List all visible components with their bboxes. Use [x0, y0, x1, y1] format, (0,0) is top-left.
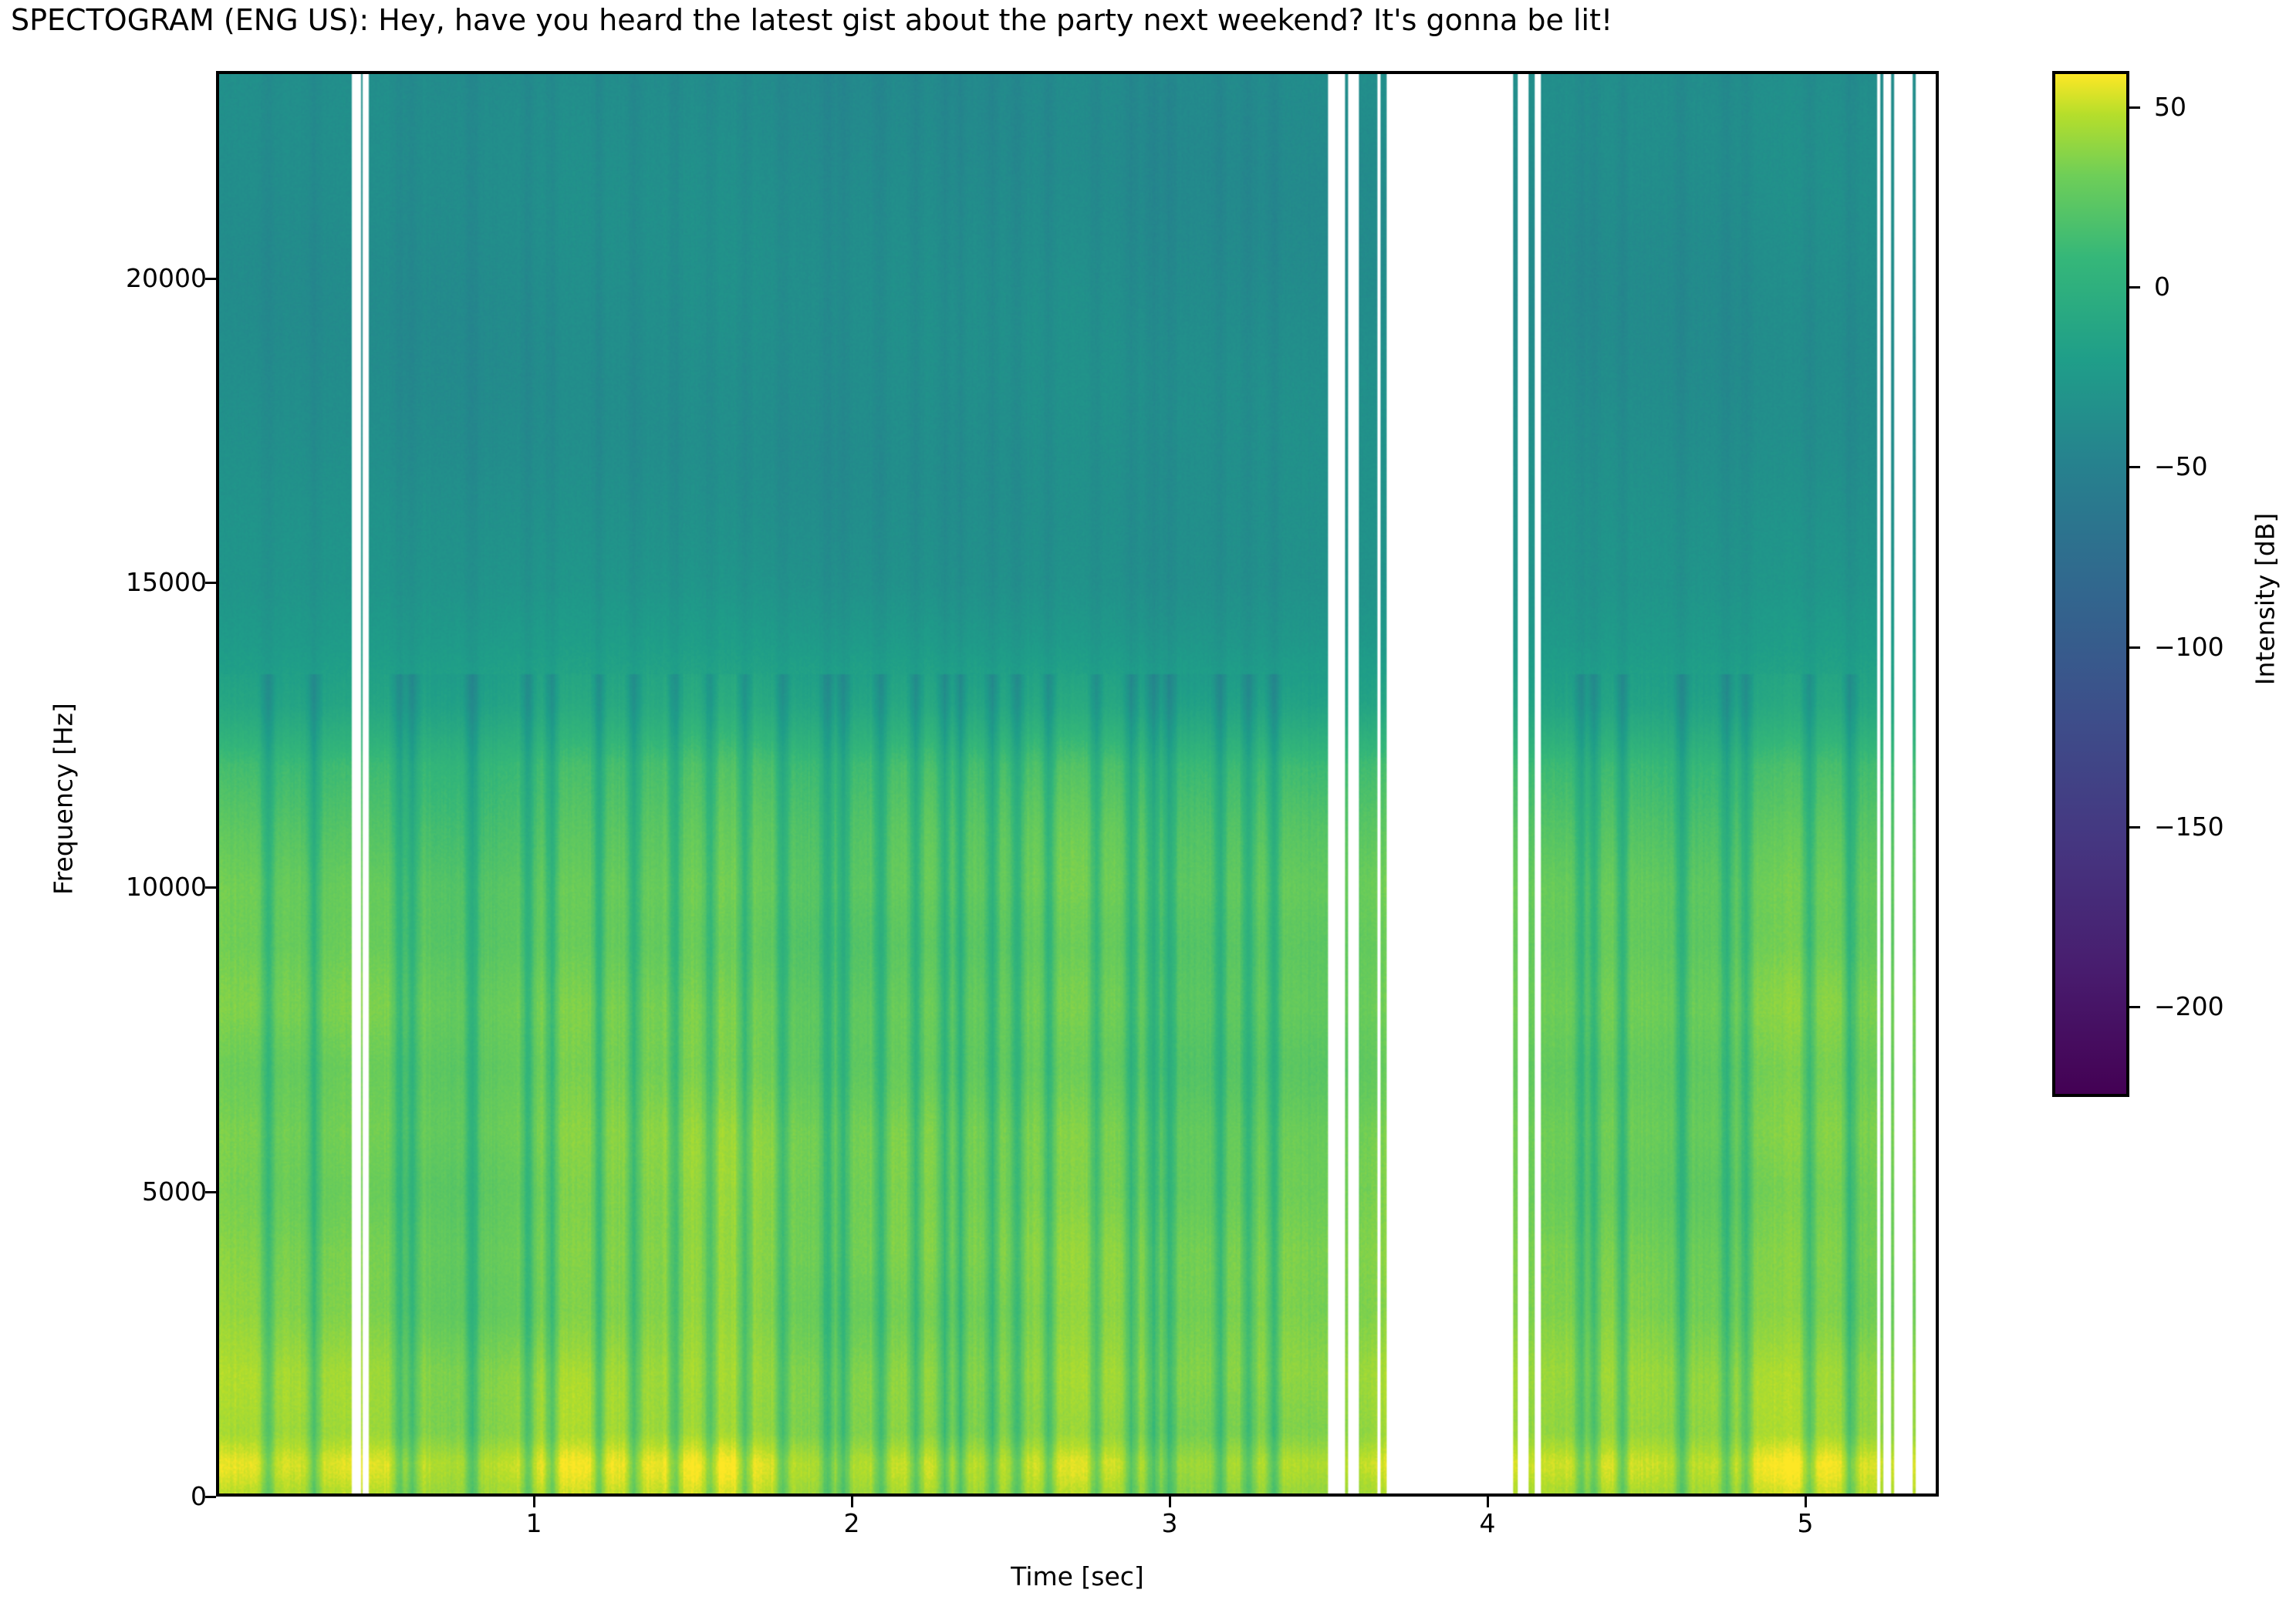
- x-axis-tick-label: 4: [1441, 1510, 1534, 1536]
- y-axis-tick-mark: [205, 1191, 216, 1193]
- page-title: SPECTOGRAM (ENG US): Hey, have you heard…: [11, 3, 2287, 37]
- x-axis-tick-mark: [533, 1497, 535, 1507]
- y-axis-tick-mark: [205, 1496, 216, 1498]
- colorbar-tick-label: −100: [2154, 634, 2224, 660]
- colorbar-tick-label: −150: [2154, 814, 2224, 839]
- colorbar-tick-mark: [2129, 466, 2140, 468]
- x-axis-tick-label: 5: [1759, 1510, 1852, 1536]
- colorbar-tick-label: −200: [2154, 994, 2224, 1019]
- y-axis-tick-label: 0: [191, 1483, 207, 1509]
- x-axis-tick-mark: [851, 1497, 853, 1507]
- colorbar-tick-mark: [2129, 1006, 2140, 1008]
- y-axis-label: Frequency [Hz]: [49, 491, 79, 1108]
- x-axis-tick-label: 2: [805, 1510, 898, 1536]
- y-axis-tick-mark: [205, 278, 216, 280]
- spectrogram-plot-area[interactable]: [216, 71, 1939, 1497]
- colorbar-tick-mark: [2129, 826, 2140, 829]
- y-axis-tick-label: 10000: [126, 874, 207, 899]
- colorbar-tick-label: 0: [2154, 274, 2170, 299]
- spectrogram-figure: SPECTOGRAM (ENG US): Hey, have you heard…: [0, 0, 2296, 1620]
- spectrogram-image: [219, 74, 1936, 1493]
- x-axis-tick-label: 1: [488, 1510, 580, 1536]
- y-axis-tick-label: 5000: [142, 1179, 207, 1204]
- colorbar-tick-mark: [2129, 286, 2140, 289]
- colorbar[interactable]: [2052, 71, 2129, 1097]
- x-axis-tick-label: 3: [1123, 1510, 1216, 1536]
- colorbar-tick-mark: [2129, 646, 2140, 649]
- x-axis-tick-mark: [1169, 1497, 1171, 1507]
- x-axis-tick-mark: [1487, 1497, 1489, 1507]
- y-axis-tick-mark: [205, 886, 216, 889]
- colorbar-tick-mark: [2129, 106, 2140, 109]
- y-axis-tick-mark: [205, 582, 216, 584]
- colorbar-tick-label: −50: [2154, 454, 2208, 479]
- colorbar-tick-label: 50: [2154, 94, 2186, 120]
- y-axis-tick-label: 20000: [126, 265, 207, 291]
- x-axis-label: Time [sec]: [216, 1561, 1939, 1591]
- colorbar-gradient: [2055, 74, 2126, 1094]
- x-axis-tick-mark: [1805, 1497, 1807, 1507]
- y-axis-tick-label: 15000: [126, 569, 207, 595]
- colorbar-label: Intensity [dB]: [2250, 329, 2281, 869]
